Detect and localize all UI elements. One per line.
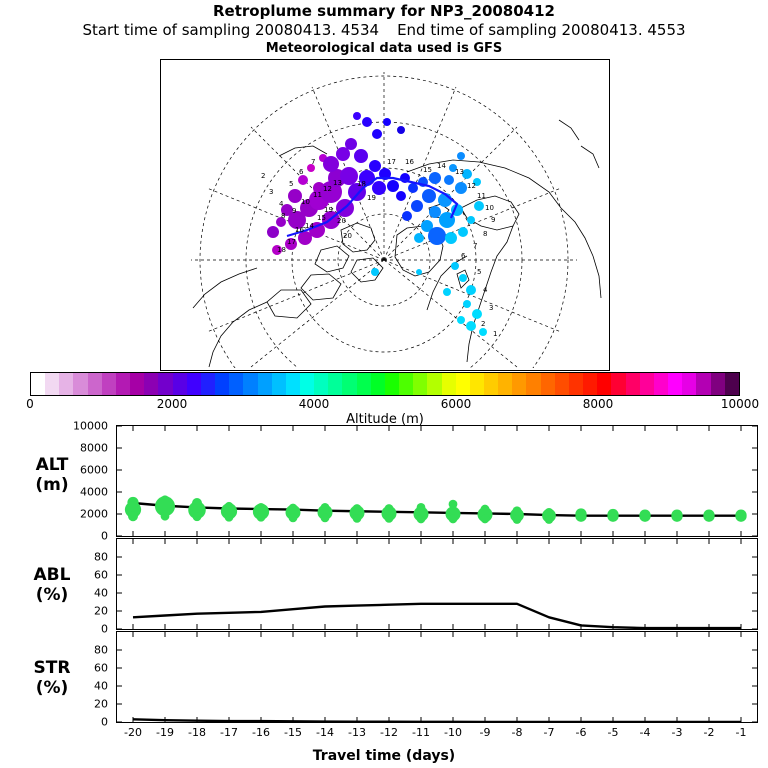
colorbar-swatch xyxy=(526,373,540,395)
colorbar-swatch xyxy=(640,373,654,395)
x-tick-label: -6 xyxy=(576,726,587,739)
abl-plot xyxy=(117,539,757,629)
end-time-label: End time of sampling 20080413. 4553 xyxy=(397,21,686,39)
x-tick-label: -9 xyxy=(480,726,491,739)
str-panel xyxy=(116,631,758,723)
x-tick-label: -4 xyxy=(640,726,651,739)
y-tick-label: 20 xyxy=(62,605,108,618)
colorbar: 0200040006000800010000 Altitude (m) xyxy=(30,372,740,396)
svg-text:2: 2 xyxy=(481,320,485,328)
svg-text:15: 15 xyxy=(317,214,326,222)
alt-panel xyxy=(116,425,758,537)
colorbar-tick-label: 2000 xyxy=(157,397,188,411)
colorbar-swatch xyxy=(328,373,342,395)
colorbar-swatch xyxy=(371,373,385,395)
y-tick-label: 40 xyxy=(62,680,108,693)
colorbar-swatch xyxy=(59,373,73,395)
colorbar-swatch xyxy=(229,373,243,395)
alt-plot xyxy=(117,426,757,536)
x-tick-label: -11 xyxy=(412,726,430,739)
colorbar-swatch xyxy=(498,373,512,395)
svg-text:8: 8 xyxy=(483,230,487,238)
x-tick-label: -3 xyxy=(672,726,683,739)
colorbar-swatch xyxy=(130,373,144,395)
x-tick-label: -17 xyxy=(220,726,238,739)
x-tick-label: -14 xyxy=(316,726,334,739)
colorbar-swatch xyxy=(611,373,625,395)
colorbar-swatch xyxy=(541,373,555,395)
colorbar-swatch xyxy=(442,373,456,395)
colorbar-tick-label: 6000 xyxy=(441,397,472,411)
colorbar-swatch xyxy=(456,373,470,395)
colorbar-swatch xyxy=(682,373,696,395)
colorbar-swatch xyxy=(470,373,484,395)
svg-text:10: 10 xyxy=(485,204,494,212)
svg-text:13: 13 xyxy=(455,168,464,176)
graticule xyxy=(191,72,577,368)
svg-text:18: 18 xyxy=(357,180,366,188)
colorbar-swatch xyxy=(45,373,59,395)
svg-text:15: 15 xyxy=(423,166,432,174)
svg-text:7: 7 xyxy=(473,242,477,250)
svg-text:6: 6 xyxy=(461,252,466,260)
page-title: Retroplume summary for NP3_20080412 xyxy=(0,2,768,21)
colorbar-swatch xyxy=(31,373,45,395)
x-tick-label: -8 xyxy=(512,726,523,739)
coastlines xyxy=(193,120,601,367)
colorbar-swatch xyxy=(357,373,371,395)
str-plot xyxy=(117,632,757,722)
x-tick-label: -2 xyxy=(704,726,715,739)
x-axis-label: Travel time (days) xyxy=(0,748,768,764)
colorbar-tick-label: 10000 xyxy=(721,397,759,411)
svg-text:8: 8 xyxy=(281,212,285,220)
polar-map: 2 3 4 5 6 7 8 9 10 11 12 13 14 15 16 17 … xyxy=(160,59,610,371)
colorbar-swatch xyxy=(555,373,569,395)
colorbar-swatch xyxy=(187,373,201,395)
colorbar-swatch xyxy=(427,373,441,395)
y-tick-label: 0 xyxy=(62,623,108,636)
svg-text:10: 10 xyxy=(301,198,310,206)
colorbar-swatch xyxy=(597,373,611,395)
svg-text:7: 7 xyxy=(311,158,315,166)
x-tick-label: -7 xyxy=(544,726,555,739)
start-time-label: Start time of sampling 20080413. 4534 xyxy=(82,21,379,39)
colorbar-swatch xyxy=(696,373,710,395)
svg-text:4: 4 xyxy=(279,200,284,208)
map-svg: 2 3 4 5 6 7 8 9 10 11 12 13 14 15 16 17 … xyxy=(161,60,607,368)
colorbar-tick-label: 8000 xyxy=(583,397,614,411)
svg-text:2: 2 xyxy=(261,172,265,180)
x-tick-label: -13 xyxy=(348,726,366,739)
colorbar-swatch xyxy=(654,373,668,395)
x-axis-ticks: -20-19-18-17-16-15-14-13-12-11-10-9-8-7-… xyxy=(0,726,768,742)
svg-text:20: 20 xyxy=(343,232,352,240)
colorbar-swatch xyxy=(158,373,172,395)
svg-text:4: 4 xyxy=(483,286,488,294)
svg-text:5: 5 xyxy=(289,180,293,188)
y-tick-label: 10000 xyxy=(62,420,108,433)
x-tick-label: -12 xyxy=(380,726,398,739)
met-data-label: Meteorological data used is GFS xyxy=(0,40,768,57)
colorbar-swatch xyxy=(144,373,158,395)
svg-text:14: 14 xyxy=(305,222,314,230)
colorbar-swatch xyxy=(300,373,314,395)
colorbar-swatch xyxy=(512,373,526,395)
svg-text:13: 13 xyxy=(333,179,342,187)
retroplume-summary-page: Retroplume summary for NP3_20080412 Star… xyxy=(0,0,768,768)
x-tick-label: -1 xyxy=(736,726,747,739)
colorbar-tick-label: 0 xyxy=(26,397,34,411)
svg-text:5: 5 xyxy=(477,268,481,276)
colorbar-swatch xyxy=(626,373,640,395)
y-tick-label: 60 xyxy=(62,569,108,582)
y-tick-label: 6000 xyxy=(62,464,108,477)
y-tick-label: 4000 xyxy=(62,486,108,499)
svg-text:12: 12 xyxy=(323,185,332,193)
svg-text:12: 12 xyxy=(467,182,476,190)
colorbar-swatch xyxy=(215,373,229,395)
colorbar-swatch xyxy=(201,373,215,395)
y-tick-label: 40 xyxy=(62,587,108,600)
svg-text:16: 16 xyxy=(295,226,304,234)
svg-text:17: 17 xyxy=(387,158,396,166)
colorbar-swatch xyxy=(569,373,583,395)
colorbar-swatch xyxy=(116,373,130,395)
colorbar-swatch xyxy=(711,373,725,395)
svg-text:1: 1 xyxy=(493,330,497,338)
colorbar-swatch xyxy=(668,373,682,395)
colorbar-swatch xyxy=(314,373,328,395)
colorbar-swatch xyxy=(583,373,597,395)
y-tick-label: 60 xyxy=(62,662,108,675)
svg-text:3: 3 xyxy=(269,188,273,196)
colorbar-swatch xyxy=(243,373,257,395)
colorbar-ticks: 0200040006000800010000 xyxy=(30,397,740,413)
svg-text:19: 19 xyxy=(367,194,376,202)
svg-text:11: 11 xyxy=(313,191,322,199)
x-tick-label: -19 xyxy=(156,726,174,739)
colorbar-swatch xyxy=(88,373,102,395)
sampling-time-line: Start time of sampling 20080413. 4534End… xyxy=(0,21,768,40)
svg-text:16: 16 xyxy=(405,158,414,166)
svg-text:9: 9 xyxy=(491,216,495,224)
colorbar-swatch xyxy=(272,373,286,395)
svg-text:17: 17 xyxy=(287,238,296,246)
colorbar-swatch xyxy=(73,373,87,395)
y-tick-label: 8000 xyxy=(62,442,108,455)
colorbar-swatch xyxy=(399,373,413,395)
y-tick-label: 80 xyxy=(62,551,108,564)
colorbar-swatch xyxy=(484,373,498,395)
colorbar-swatch xyxy=(725,373,739,395)
svg-text:18: 18 xyxy=(277,246,286,254)
svg-text:3: 3 xyxy=(489,304,493,312)
x-tick-label: -18 xyxy=(188,726,206,739)
title-block: Retroplume summary for NP3_20080412 Star… xyxy=(0,2,768,57)
x-tick-label: -15 xyxy=(284,726,302,739)
colorbar-swatch xyxy=(385,373,399,395)
x-tick-label: -16 xyxy=(252,726,270,739)
x-tick-label: -20 xyxy=(124,726,142,739)
svg-text:20: 20 xyxy=(337,217,346,225)
y-tick-label: 80 xyxy=(62,644,108,657)
svg-text:6: 6 xyxy=(299,168,304,176)
colorbar-swatch xyxy=(413,373,427,395)
colorbar-swatch xyxy=(342,373,356,395)
y-tick-label: 2000 xyxy=(62,508,108,521)
svg-text:14: 14 xyxy=(437,162,446,170)
colorbar-swatch xyxy=(173,373,187,395)
colorbar-gradient xyxy=(30,372,740,396)
y-tick-label: 0 xyxy=(62,530,108,543)
colorbar-swatch xyxy=(258,373,272,395)
svg-text:19: 19 xyxy=(324,206,333,214)
abl-panel xyxy=(116,538,758,630)
x-tick-label: -10 xyxy=(444,726,462,739)
svg-text:11: 11 xyxy=(477,192,486,200)
cluster-markers xyxy=(267,112,487,336)
x-tick-label: -5 xyxy=(608,726,619,739)
colorbar-swatch xyxy=(102,373,116,395)
svg-text:9: 9 xyxy=(292,207,296,215)
y-tick-label: 20 xyxy=(62,698,108,711)
colorbar-tick-label: 4000 xyxy=(299,397,330,411)
colorbar-swatch xyxy=(286,373,300,395)
